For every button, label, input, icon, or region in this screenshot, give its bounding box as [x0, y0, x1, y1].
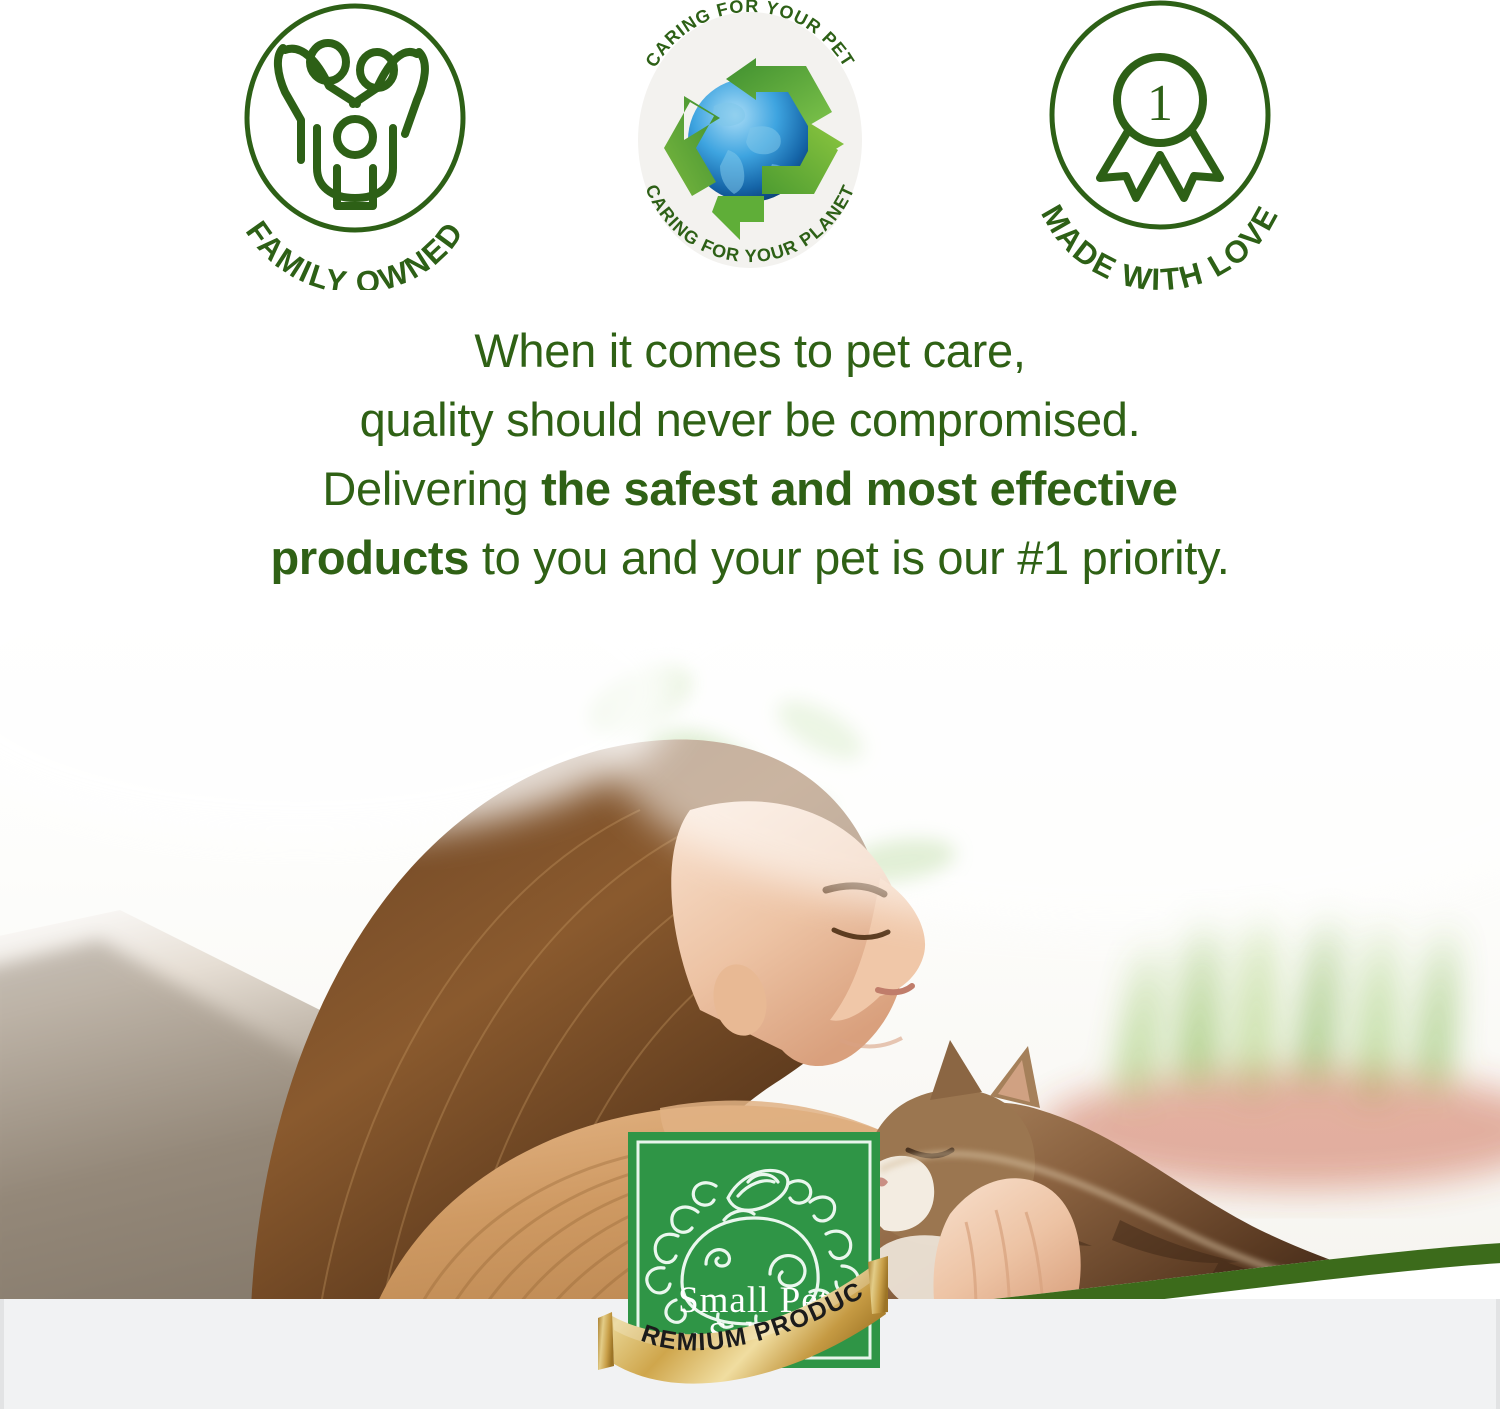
- badge-family-owned-label: FAMILY OWNED: [239, 214, 471, 290]
- headline: When it comes to pet care, quality shoul…: [0, 316, 1500, 592]
- headline-line-3-bold: the safest and most effective: [541, 462, 1177, 515]
- headline-line-4: products to you and your pet is our #1 p…: [60, 523, 1440, 592]
- trust-badge-row: FAMILY OWNED: [0, 0, 1500, 290]
- badge-made-with-love: 1 MADE WITH LOVE: [1010, 0, 1310, 290]
- headline-line-3: Delivering the safest and most effective: [60, 454, 1440, 523]
- promo-page: FAMILY OWNED: [0, 0, 1500, 1409]
- headline-line-1: When it comes to pet care,: [60, 316, 1440, 385]
- family-people-hands-icon: [278, 43, 425, 206]
- headline-line-4-rest: to you and your pet is our #1 priority.: [469, 531, 1229, 584]
- badge-caring-planet: CARING FOR YOUR PET CARING FOR YOUR PLAN…: [600, 0, 900, 290]
- badge-made-with-love-label: MADE WITH LOVE: [1034, 199, 1285, 290]
- badge-family-owned: FAMILY OWNED: [205, 0, 505, 290]
- small-pet-select-logo: Small Pet Select PREMIUM PRODUCT: [620, 1124, 888, 1384]
- page-edge-left: [0, 1299, 4, 1409]
- headline-line-3-prefix: Delivering: [322, 462, 541, 515]
- award-number: 1: [1147, 75, 1173, 132]
- headline-line-4-bold: products: [270, 531, 469, 584]
- page-edge-right: [1496, 1299, 1500, 1409]
- headline-line-2: quality should never be compromised.: [60, 385, 1440, 454]
